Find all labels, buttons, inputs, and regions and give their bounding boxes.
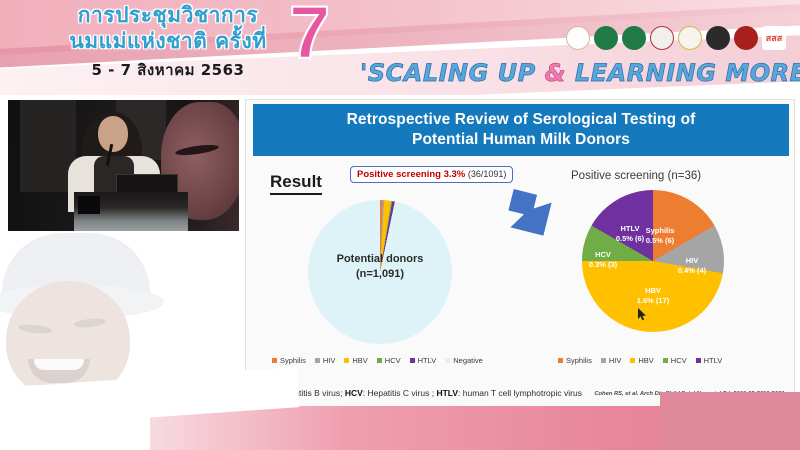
fn-hcv-key: HCV: [345, 388, 363, 398]
logo-crimson-emblem-icon: [734, 26, 758, 50]
logo-gold-emblem-icon: [678, 26, 702, 50]
legend-item-htlv-right: HTLV: [696, 356, 723, 365]
down-right-block-arrow-icon: [504, 188, 558, 242]
thai-title-line2: นมแม่แห่งชาติ ครั้งที่: [18, 28, 318, 54]
slice-label-hbv: HBV 1.6% (17): [624, 286, 682, 306]
legend-item-hbv-right: HBV: [630, 356, 653, 365]
watermark-teeth: [34, 359, 84, 370]
legend-item-htlv-left: HTLV: [410, 356, 437, 365]
legend-item-hiv-left: HIV: [315, 356, 336, 365]
conference-tagline: 'SCALING UP & LEARNING MORE': [360, 58, 800, 88]
slice-label-htlv: HTLV 0.5% (6): [606, 224, 654, 244]
logo-red-emblem-icon: [650, 26, 674, 50]
mouse-cursor-icon: [638, 308, 647, 321]
tagline-ampersand: &: [545, 59, 566, 87]
fn-htlv-key: HTLV: [436, 388, 458, 398]
positive-screening-callout: Positive screening 3.3% (36/1091): [350, 166, 513, 183]
pie-left-center-label: Potential donors (n=1,091): [308, 252, 452, 282]
pie-left-subtitle: (n=1,091): [308, 267, 452, 282]
slice-label-hcv: HCV 0.3% (3): [580, 250, 626, 270]
legend-item-syphilis-right: Syphilis: [558, 356, 592, 365]
logo-green-shield-1-icon: [594, 26, 618, 50]
logo-thaihealth-icon: สสส: [762, 26, 786, 50]
conference-banner: การประชุมวิชาการ นมแม่แห่งชาติ ครั้งที่ …: [0, 0, 800, 95]
legend-positive-screening: Syphilis HIV HBV HCV HTLV: [558, 356, 722, 365]
logo-royal-seal-icon: [566, 26, 590, 50]
slide-title-line1: Retrospective Review of Serological Test…: [347, 110, 696, 130]
pie-right-title: Positive screening (n=36): [571, 170, 791, 182]
presenter-video-feed[interactable]: [8, 100, 239, 231]
tagline-part2: LEARNING MORE': [566, 59, 800, 87]
legend-item-hcv-left: HCV: [377, 356, 401, 365]
logo-green-shield-2-icon: [622, 26, 646, 50]
edition-number: 7: [289, 0, 330, 70]
screen-root: การประชุมวิชาการ นมแม่แห่งชาติ ครั้งที่ …: [0, 0, 800, 450]
footer-strip: [0, 410, 800, 450]
pie-chart-positive-screening: Syphilis 0.5% (6) HIV 0.4% (4) HBV 1.6% …: [582, 190, 724, 332]
abbreviation-legend: HBV: Hepatitis B virus; HCV: Hepatitis C…: [256, 388, 582, 398]
sponsor-logo-row: สสส: [566, 26, 786, 50]
legend-potential-donors: Syphilis HIV HBV HCV HTLV Negative: [272, 356, 483, 365]
slide-title-bar: Retrospective Review of Serological Test…: [253, 104, 789, 156]
result-heading: Result: [270, 172, 322, 195]
podium-panel: [78, 196, 100, 214]
tagline-part1: 'SCALING UP: [360, 59, 545, 87]
legend-item-hbv-left: HBV: [344, 356, 367, 365]
fn-hcv-val: : Hepatitis C virus ;: [363, 388, 437, 398]
slice-label-hiv: HIV 0.4% (4): [670, 256, 714, 276]
legend-item-negative-left: Negative: [445, 356, 483, 365]
fn-htlv-val: : human T cell lymphotropic virus: [458, 388, 582, 398]
legend-item-hiv-right: HIV: [601, 356, 622, 365]
callout-highlight-text: Positive screening 3.3%: [357, 169, 465, 180]
presentation-slide: Retrospective Review of Serological Test…: [245, 99, 795, 407]
footer-pink-block: [660, 392, 800, 450]
presenter-face: [98, 116, 128, 152]
conference-date: 5 - 7 สิงหาคม 2563: [18, 58, 318, 82]
conference-thai-title: การประชุมวิชาการ นมแม่แห่งชาติ ครั้งที่ …: [18, 2, 318, 82]
logo-black-emblem-icon: [706, 26, 730, 50]
thai-title-line1: การประชุมวิชาการ: [18, 2, 318, 28]
callout-subtext: (36/1091): [468, 169, 507, 179]
slide-title-line2: Potential Human Milk Donors: [412, 130, 630, 150]
legend-item-syphilis-left: Syphilis: [272, 356, 306, 365]
pie-left-title: Potential donors: [308, 252, 452, 267]
legend-item-hcv-right: HCV: [663, 356, 687, 365]
